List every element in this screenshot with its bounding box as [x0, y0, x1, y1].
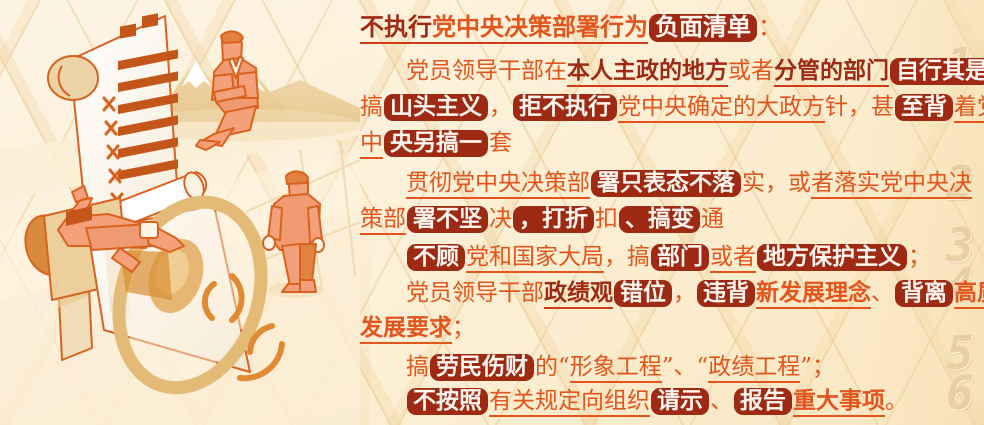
item-1-line-2: 搞山头主义，拒不执行党中央确定的大政方针，甚至背着党: [360, 94, 984, 121]
run-underline: 党和国家大局: [466, 244, 604, 273]
item-4-line-1: 党员领导干部政绩观错位，违背新发展理念、背离高质量: [360, 280, 984, 307]
run-text: 或者: [728, 58, 774, 84]
run-punct: ；: [452, 315, 475, 341]
run-text: 搞: [360, 94, 383, 120]
run-underline: 中: [360, 130, 383, 159]
item-3-line-1: 不顾党和国家大局，搞部门或者地方保护主义；: [360, 244, 931, 271]
run-pill: 署只表态不落: [591, 170, 741, 197]
run-text: 搞: [406, 354, 429, 380]
run-text: 的“: [535, 354, 570, 380]
run-underline: 贯彻党中央决策部: [406, 170, 590, 199]
run-punct: 。: [885, 388, 908, 414]
run-punct: ”；: [800, 354, 835, 380]
run-pill: 不顾: [407, 244, 465, 271]
item-5-line-1: 搞劳民伤财的“形象工程”、“政绩工程”；: [360, 354, 835, 381]
item-1-line-3: 中央另搞一套: [360, 130, 512, 157]
run-pill: 违背: [697, 280, 755, 307]
run-pill: 报告: [734, 388, 792, 415]
run-underline: 着党: [954, 94, 984, 123]
run-punct: ”、“: [662, 354, 709, 380]
run-underline: 发展要求: [360, 314, 452, 344]
run-pill: 地方保护主义: [757, 244, 907, 271]
run-pill: 、搞变: [619, 206, 700, 233]
title-colon: ：: [758, 13, 782, 41]
run-underline: 政绩工程: [708, 354, 800, 383]
run-underline: 向组织: [581, 388, 650, 417]
run-pill: 至背: [895, 94, 953, 121]
run-underline: 分管的部门: [774, 57, 889, 87]
run-punct: 扣: [595, 206, 618, 232]
run-text: ，或: [765, 170, 811, 196]
illustration-panel: [0, 0, 360, 425]
run-punct: 实: [742, 170, 765, 196]
run-underline: 政绩观: [544, 279, 613, 309]
run-punct: 决: [489, 206, 512, 232]
run-text: ，甚: [848, 94, 894, 120]
run-pill: 山头主义: [384, 94, 488, 121]
run-underline: 党中央确定的大政方: [618, 94, 825, 123]
run-pill: 自行其是: [890, 58, 984, 85]
run-underline: 策部: [360, 206, 406, 235]
item-1-line-1: 党员领导干部在本人主政的地方或者分管的部门自行其是，: [360, 58, 984, 85]
title-dark-part: 不执行: [360, 12, 432, 44]
run-punct: ，: [673, 280, 696, 306]
run-punct: 、: [710, 388, 733, 414]
run-underline: 或者: [710, 244, 756, 273]
run-punct: 、: [871, 280, 894, 306]
run-pill: 署不坚: [407, 206, 488, 233]
run-underline: 者落实党中央决: [811, 170, 972, 199]
run-pill: 劳民伤财: [430, 354, 534, 381]
run-underline: 高质量: [954, 279, 984, 309]
item-4-line-2: 发展要求；: [360, 316, 475, 340]
run-underline: 重大事项: [793, 387, 885, 417]
run-punct: ，: [489, 94, 512, 120]
run-pill: 部门: [651, 244, 709, 271]
item-6-line-1: 不按照有关规定向组织请示、报告重大事项。: [360, 388, 908, 415]
run-underline: 新发展理念: [756, 279, 871, 309]
run-underline: 形象工程: [570, 354, 662, 383]
title-orange-part: 党中央决策部署行为: [432, 12, 648, 44]
run-text: 党员领导干部在: [406, 58, 567, 84]
run-punct: ；: [908, 244, 931, 270]
run-punct: 通: [701, 206, 724, 232]
run-underline: 有关规定: [489, 388, 581, 417]
run-text: 搞: [627, 244, 650, 270]
run-pill: 错位: [614, 280, 672, 307]
poster-title: 不执行党中央决策部署行为负面清单：: [360, 14, 782, 42]
run-pill: 拒不执行: [513, 94, 617, 121]
item-2-line-1: 贯彻党中央决策部署只表态不落实，或者落实党中央决: [360, 170, 972, 197]
run-pill: 央另搞一: [384, 130, 488, 157]
run-pill: 请示: [651, 388, 709, 415]
item-2-line-2: 策部署不坚决，打折扣、搞变通: [360, 206, 724, 233]
run-underline: 本人主政的地方: [567, 57, 728, 87]
run-pill: 不按照: [407, 388, 488, 415]
item-number-6: 6: [946, 370, 972, 416]
title-badge: 负面清单: [649, 14, 757, 42]
run-punct: 针: [825, 94, 848, 120]
text-column: 不执行党中央决策部署行为负面清单： 党员领导干部在本人主政的地方或者分管的部门自…: [360, 0, 940, 425]
run-text: 党员领导干部: [406, 280, 544, 306]
run-punct: 套: [489, 130, 512, 156]
run-punct: ，: [604, 244, 627, 270]
poster-root: 1 2 3 4 5 6 不执行党中央决策部署行为负面清单： 党员领导干部在本人主…: [0, 0, 984, 425]
run-pill: ，打折: [513, 206, 594, 233]
run-pill: 背离: [895, 280, 953, 307]
